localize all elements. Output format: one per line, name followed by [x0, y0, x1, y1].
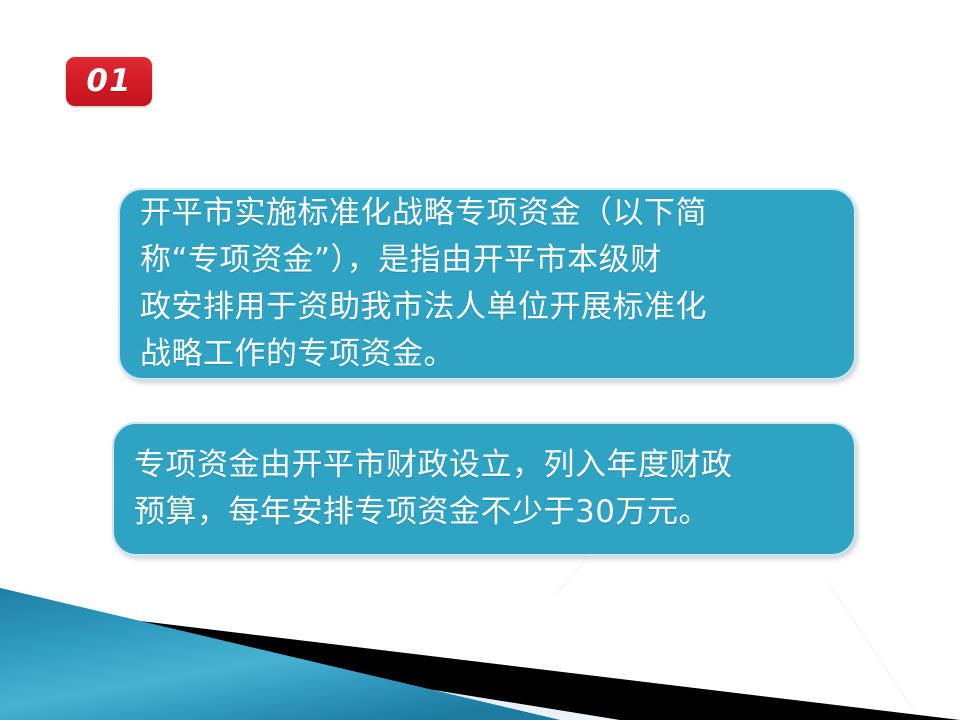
callout-box-2-text: 专项资金由开平市财政设立，列入年度财政 预算，每年安排专项资金不少于30万元。 — [114, 442, 854, 536]
callout-line: 政安排用于资助我市法人单位开展标准化 — [140, 284, 836, 331]
callout-box-1-text: 开平市实施标准化战略专项资金（以下简 称“专项资金”），是指由开平市本级财 政安… — [120, 190, 854, 378]
callout-line: 专项资金由开平市财政设立，列入年度财政 — [134, 442, 836, 489]
callout-box-1: 开平市实施标准化战略专项资金（以下简 称“专项资金”），是指由开平市本级财 政安… — [118, 188, 856, 380]
callout-line: 称“专项资金”），是指由开平市本级财 — [140, 237, 836, 284]
callout-line: 开平市实施标准化战略专项资金（以下简 — [140, 190, 836, 237]
callout-line: 预算，每年安排专项资金不少于30万元。 — [134, 489, 836, 536]
slide-canvas: 01 开平市实施标准化战略专项资金（以下简 称“专项资金”），是指由开平市本级财… — [0, 0, 960, 720]
callout-box-2: 专项资金由开平市财政设立，列入年度财政 预算，每年安排专项资金不少于30万元。 — [112, 422, 856, 556]
slide-number-badge: 01 — [66, 57, 152, 106]
bottom-diagonal-decoration — [0, 560, 960, 720]
slide-number-label: 01 — [86, 66, 131, 97]
decorative-hairline-right — [827, 582, 940, 720]
callout-line: 战略工作的专项资金。 — [140, 331, 836, 378]
